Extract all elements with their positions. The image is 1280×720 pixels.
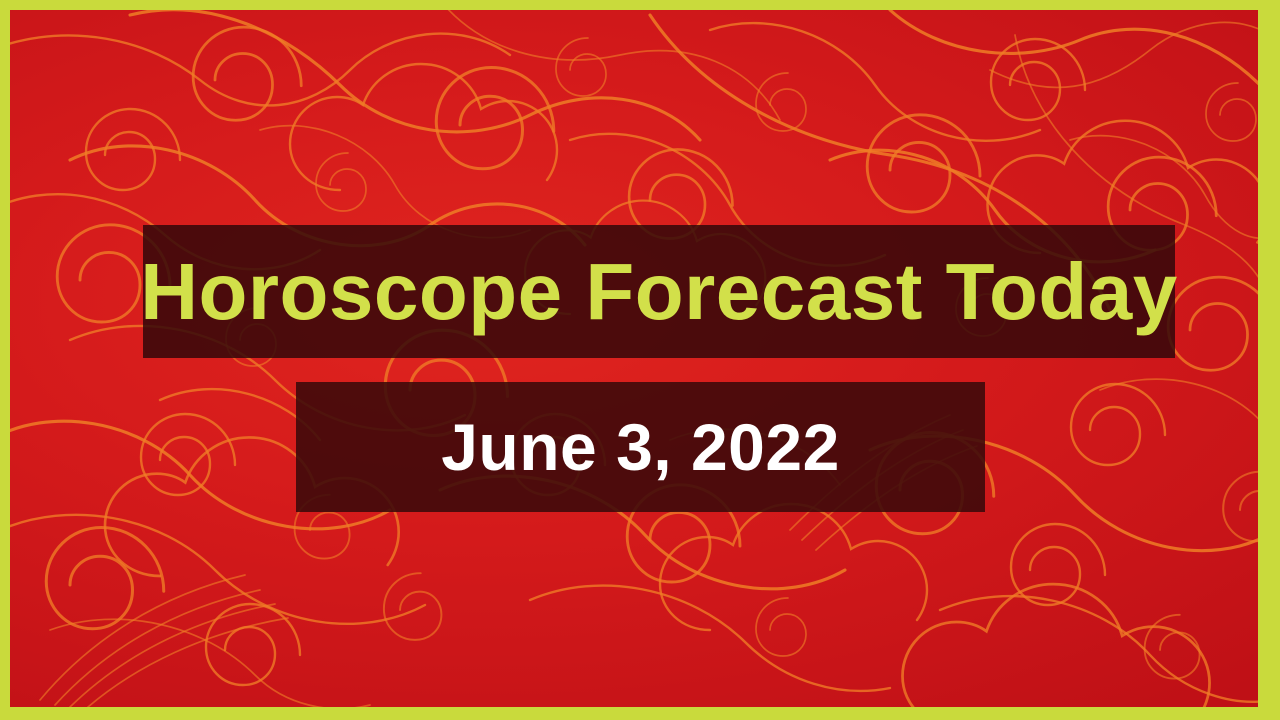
title-banner: Horoscope Forecast Today: [143, 225, 1175, 358]
poster-canvas: Horoscope Forecast Today June 3, 2022: [10, 10, 1258, 707]
poster-date: June 3, 2022: [441, 414, 840, 480]
date-banner: June 3, 2022: [296, 382, 985, 512]
horoscope-poster: Horoscope Forecast Today June 3, 2022: [0, 0, 1280, 720]
poster-title: Horoscope Forecast Today: [140, 252, 1177, 332]
cloud-swirl-pattern: [10, 10, 1258, 707]
